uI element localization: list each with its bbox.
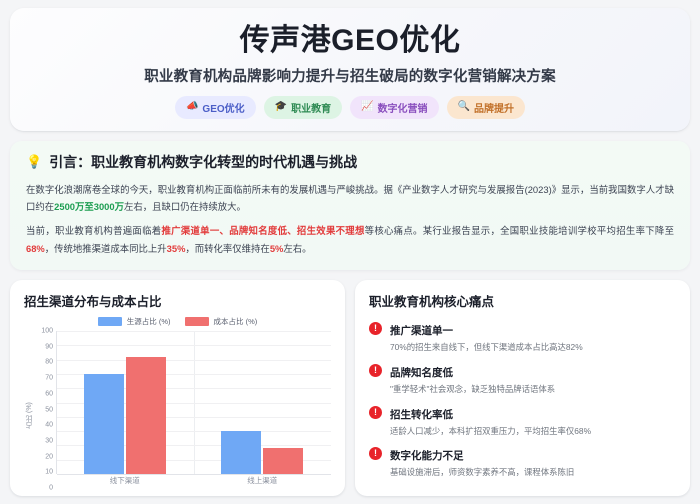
painpoint-item: !招生转化率低适龄人口减少，本科扩招双重压力，平均招生率仅68% [369,405,676,438]
painpoints-card: 职业教育机构核心痛点 !推广渠道单一70%的招生来自线下，但线下渠道成本占比高达… [355,280,690,496]
bar-group [194,331,332,474]
lightbulb-icon: 💡 [26,155,42,168]
chart-title: 招生渠道分布与成本占比 [24,291,331,310]
page-title: 传声港GEO优化 [30,22,670,60]
tag-label: 数字化营销 [378,100,428,115]
intro-p2-text-c: ，传统地推渠道成本同比上升 [45,243,167,254]
intro-p2-stat-68: 68% [26,243,45,254]
painpoint-desc: 基础设施滞后，师资数字素养不高，课程体系陈旧 [390,467,574,479]
chart-bar-groups [56,331,331,474]
intro-paragraph-2: 当前，职业教育机构普遍面临着推广渠道单一、品牌知名度低、招生效果不理想等核心痛点… [26,222,674,257]
y-axis-ticks: 0102030405060708090100 [36,331,56,488]
x-axis-labels: 线下渠道线上渠道 [56,474,331,488]
painpoints-list: !推广渠道单一70%的招生来自线下，但线下渠道成本占比高达82%!品牌知名度低"… [369,321,676,479]
y-tick-label: 20 [45,453,53,460]
tag-brand-improvement[interactable]: 🔍 品牌提升 [447,96,525,119]
alert-icon: ! [369,447,382,460]
y-tick-label: 10 [45,469,53,476]
y-axis-label: 占比 (%) [24,331,36,488]
tag-vocational-education[interactable]: 🎓 职业教育 [264,96,342,119]
y-tick-label: 50 [45,406,53,413]
intro-p1-text-b: 左右，且缺口仍在持续放大。 [124,201,246,212]
y-tick-label: 70 [45,375,53,382]
y-tick-label: 0 [49,485,53,492]
intro-p2-text-a: 当前，职业教育机构普遍面临着 [26,225,161,236]
alert-icon: ! [369,364,382,377]
chart-plot-area: 占比 (%) 0102030405060708090100 线下渠道线上渠道 [24,331,331,488]
intro-p2-stat-35: 35% [167,243,186,254]
y-tick-label: 30 [45,437,53,444]
intro-p1-highlight: 2500万至3000万 [54,201,124,212]
chart-legend: 生源占比 (%) 成本占比 (%) [24,316,331,327]
tag-digital-marketing[interactable]: 📈 数字化营销 [350,96,438,119]
legend-item-cost-share[interactable]: 成本占比 (%) [185,316,258,327]
painpoint-body: 推广渠道单一70%的招生来自线下，但线下渠道成本占比高达82% [390,321,583,354]
magnifier-icon: 🔍 [458,102,470,112]
legend-swatch [98,317,122,326]
painpoints-title: 职业教育机构核心痛点 [369,291,676,310]
y-tick-label: 40 [45,422,53,429]
tag-label: 品牌提升 [474,100,514,115]
y-tick-label: 90 [45,343,53,350]
painpoint-desc: "重学轻术"社会观念，缺乏独特品牌话语体系 [390,384,555,396]
bottom-row: 招生渠道分布与成本占比 生源占比 (%) 成本占比 (%) 占比 (%) 010… [10,280,690,496]
painpoint-title: 推广渠道单一 [390,325,453,337]
chart-card: 招生渠道分布与成本占比 生源占比 (%) 成本占比 (%) 占比 (%) 010… [10,280,345,496]
legend-label: 生源占比 (%) [127,316,171,327]
y-tick-label: 60 [45,390,53,397]
tag-geo-optimization[interactable]: 📣 GEO优化 [175,96,256,119]
chart-bar[interactable] [221,431,261,474]
page-subtitle: 职业教育机构品牌影响力提升与招生破局的数字化营销解决方案 [30,65,670,86]
chart-line-icon: 📈 [361,102,373,112]
legend-item-source-share[interactable]: 生源占比 (%) [98,316,171,327]
alert-icon: ! [369,322,382,335]
intro-p2-painpoints: 推广渠道单一、品牌知名度低、招生效果不理想 [161,225,364,236]
megaphone-icon: 📣 [186,102,198,112]
intro-p2-text-e: 左右。 [283,243,311,254]
painpoint-item: !推广渠道单一70%的招生来自线下，但线下渠道成本占比高达82% [369,321,676,354]
painpoint-item: !品牌知名度低"重学轻术"社会观念，缺乏独特品牌话语体系 [369,363,676,396]
painpoint-title: 数字化能力不足 [390,450,464,462]
intro-p2-stat-5: 5% [270,243,284,254]
x-tick-label: 线上渠道 [194,474,332,488]
painpoint-desc: 70%的招生来自线下，但线下渠道成本占比高达82% [390,342,583,354]
intro-heading-row: 💡 引言：职业教育机构数字化转型的时代机遇与挑战 [26,152,674,172]
painpoint-desc: 适龄人口减少，本科扩招双重压力，平均招生率仅68% [390,426,591,438]
legend-label: 成本占比 (%) [214,316,258,327]
painpoint-item: !数字化能力不足基础设施滞后，师资数字素养不高，课程体系陈旧 [369,446,676,479]
bar-chart: 生源占比 (%) 成本占比 (%) 占比 (%) 010203040506070… [24,314,331,488]
chart-bar[interactable] [84,374,124,474]
painpoint-body: 数字化能力不足基础设施滞后，师资数字素养不高，课程体系陈旧 [390,446,574,479]
tag-label: GEO优化 [202,100,244,115]
graduation-cap-icon: 🎓 [275,102,287,112]
intro-paragraph-1: 在数字化浪潮席卷全球的今天，职业教育机构正面临前所未有的发展机遇与严峻挑战。据《… [26,181,674,216]
bar-group [56,331,194,474]
alert-icon: ! [369,406,382,419]
hero-banner: 传声港GEO优化 职业教育机构品牌影响力提升与招生破局的数字化营销解决方案 📣 … [10,8,690,131]
hero-tag-row: 📣 GEO优化 🎓 职业教育 📈 数字化营销 🔍 品牌提升 [30,96,670,119]
tag-label: 职业教育 [291,100,331,115]
chart-grid-area: 线下渠道线上渠道 [56,331,331,488]
y-tick-label: 100 [41,328,53,335]
page-root: 传声港GEO优化 职业教育机构品牌影响力提升与招生破局的数字化营销解决方案 📣 … [0,0,700,504]
y-tick-label: 80 [45,359,53,366]
x-tick-label: 线下渠道 [56,474,194,488]
painpoint-title: 招生转化率低 [390,409,453,421]
intro-card: 💡 引言：职业教育机构数字化转型的时代机遇与挑战 在数字化浪潮席卷全球的今天，职… [10,141,690,271]
painpoint-body: 品牌知名度低"重学轻术"社会观念，缺乏独特品牌话语体系 [390,363,555,396]
intro-p2-text-b: 等核心痛点。某行业报告显示，全国职业技能培训学校平均招生率下降至 [365,225,674,236]
intro-heading: 引言：职业教育机构数字化转型的时代机遇与挑战 [49,152,357,172]
intro-p2-text-d: ，而转化率仅维持在 [185,243,269,254]
painpoint-body: 招生转化率低适龄人口减少，本科扩招双重压力，平均招生率仅68% [390,405,591,438]
painpoint-title: 品牌知名度低 [390,367,453,379]
legend-swatch [185,317,209,326]
chart-bar[interactable] [263,448,303,474]
chart-bar[interactable] [126,357,166,474]
